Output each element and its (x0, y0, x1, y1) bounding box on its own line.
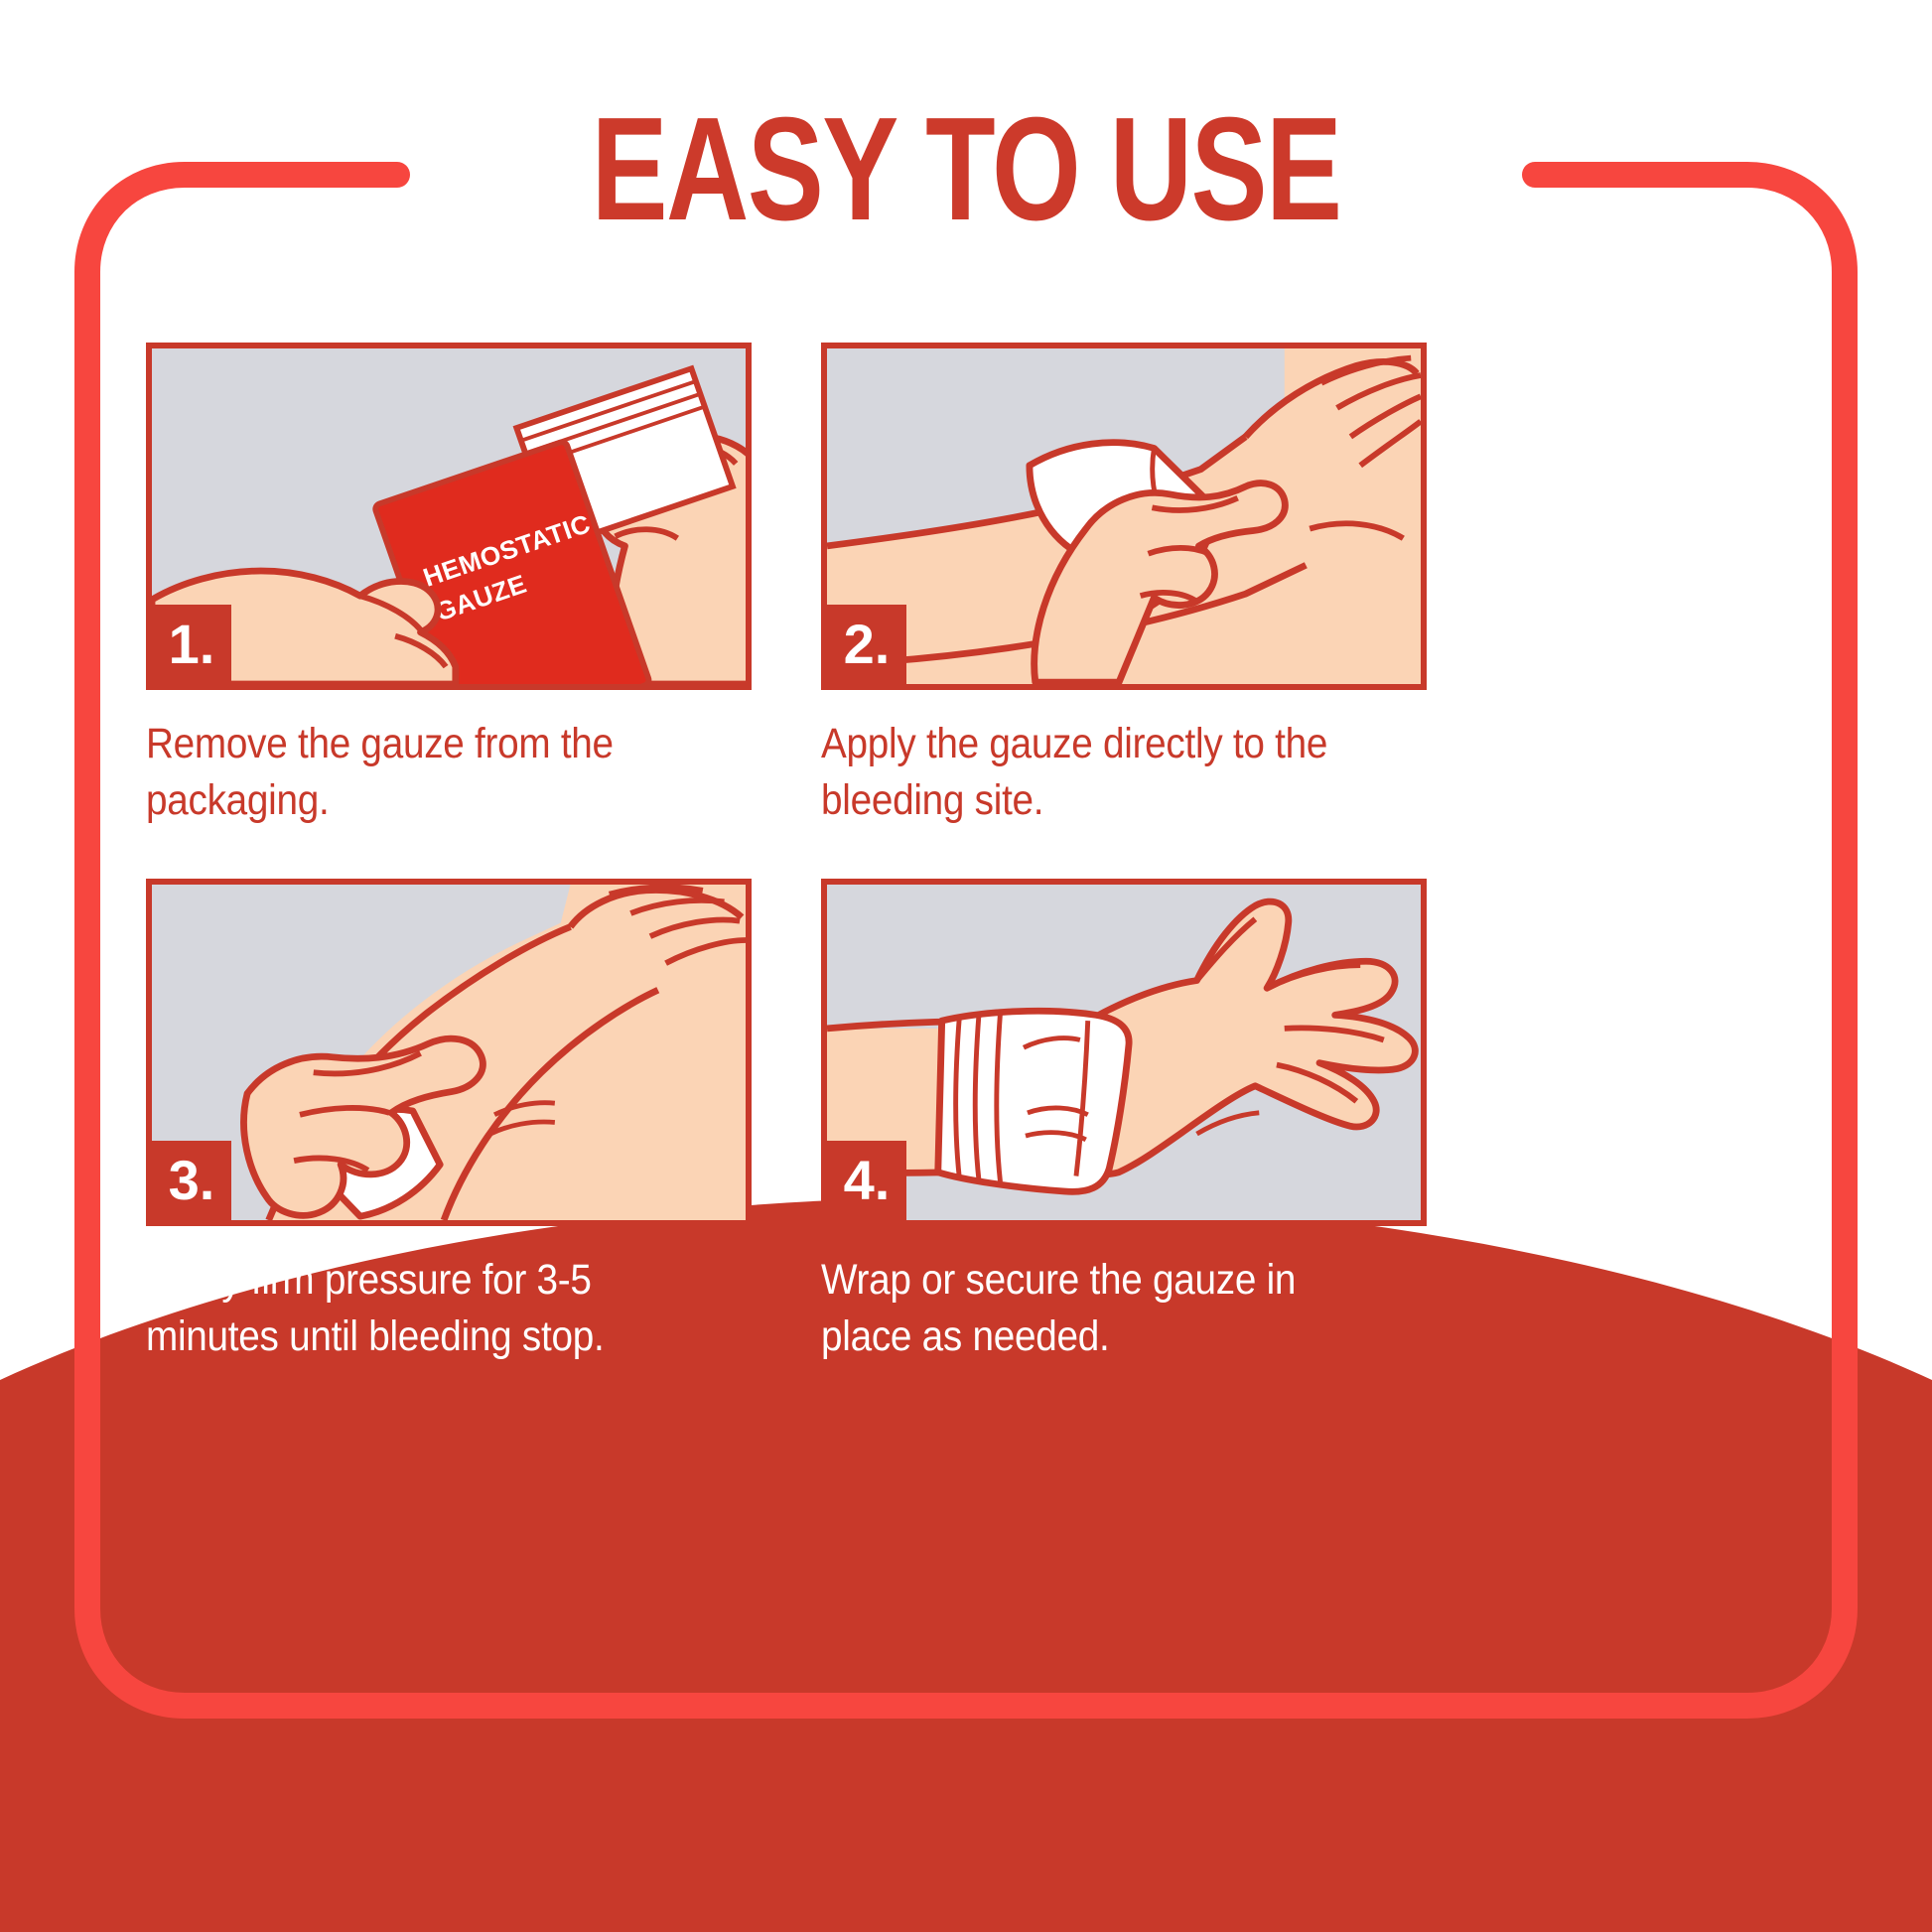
step-4-illustration-panel: 4. (821, 879, 1427, 1226)
step-4-number-badge: 4. (827, 1141, 906, 1220)
applying-firm-pressure-illustration (152, 885, 746, 1220)
step-2-caption: Apply the gauze directly to the bleeding… (821, 716, 1357, 829)
step-4: 4. Wrap or secure the gauze in place as … (821, 879, 1427, 1365)
step-2: 2. Apply the gauze directly to the bleed… (821, 343, 1427, 829)
step-1: HEMOSTATIC GAUZE 1. Remove the gauze fro… (146, 343, 752, 829)
step-1-number-badge: 1. (152, 605, 231, 684)
step-2-illustration-panel: 2. (821, 343, 1427, 690)
step-3-illustration-panel: 3. (146, 879, 752, 1226)
step-2-number-badge: 2. (827, 605, 906, 684)
steps-grid: HEMOSTATIC GAUZE 1. Remove the gauze fro… (146, 343, 1427, 1365)
wrapped-bandage-illustration (827, 885, 1421, 1220)
step-1-illustration-panel: HEMOSTATIC GAUZE 1. (146, 343, 752, 690)
page-title: EASY TO USE (212, 95, 1720, 244)
step-1-caption: Remove the gauze from the packaging. (146, 716, 682, 829)
step-4-caption: Wrap or secure the gauze in place as nee… (821, 1252, 1357, 1365)
applying-gauze-to-bleeding-site-illustration (827, 348, 1421, 684)
step-3-caption: Apply firm pressure for 3-5 minutes unti… (146, 1252, 682, 1365)
step-3-number-badge: 3. (152, 1141, 231, 1220)
infographic-canvas: EASY TO USE (0, 0, 1932, 1932)
step-3: 3. Apply firm pressure for 3-5 minutes u… (146, 879, 752, 1365)
hands-opening-package-illustration: HEMOSTATIC GAUZE (152, 348, 746, 684)
